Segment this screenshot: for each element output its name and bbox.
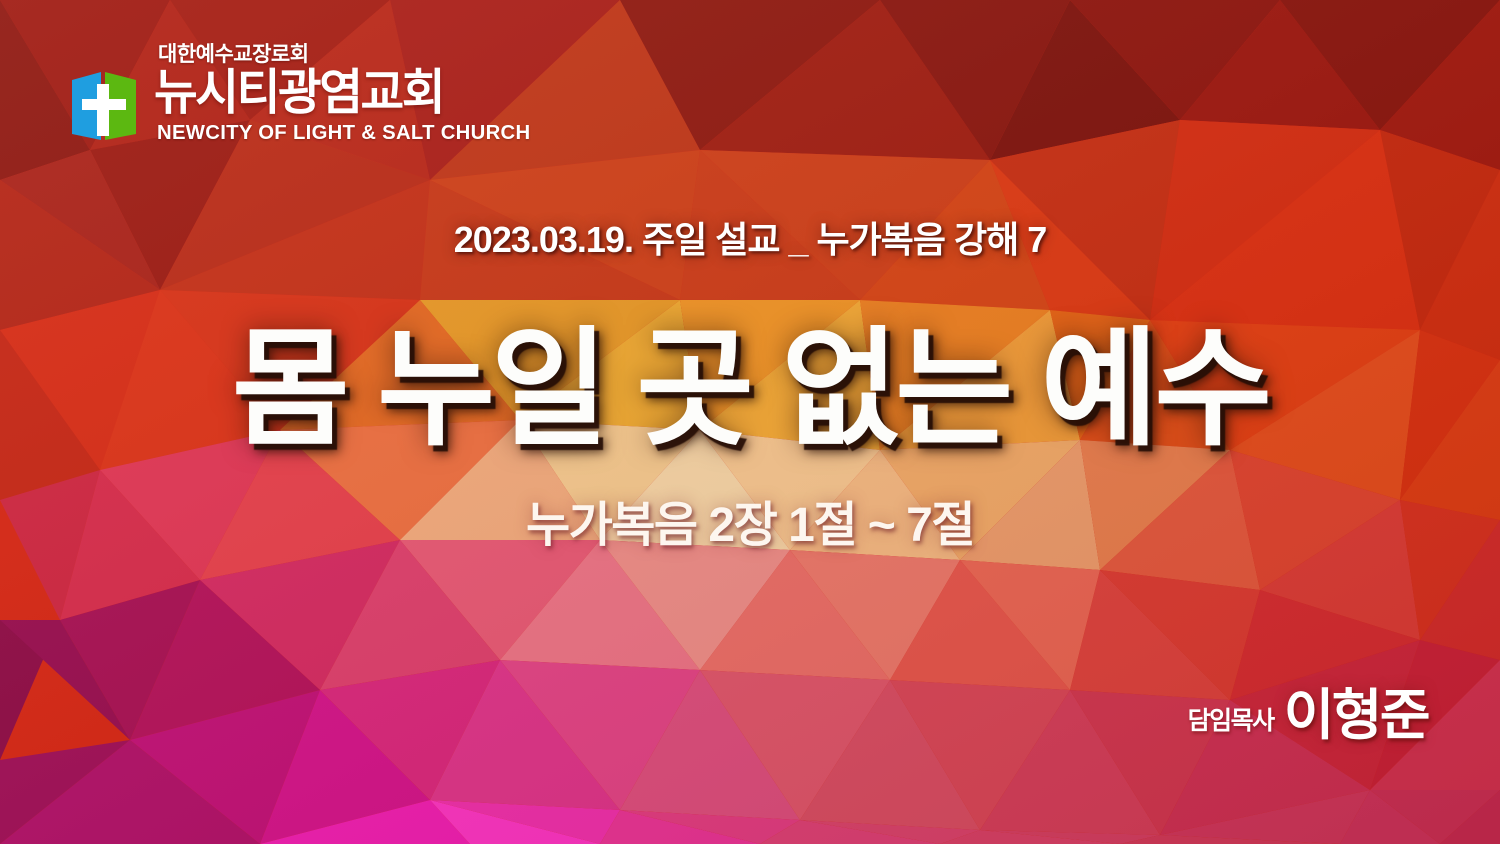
open-book-cross-logo-icon [68, 70, 142, 146]
sermon-series-line: 2023.03.19. 주일 설교 _ 누가복음 강해 7 [0, 222, 1500, 258]
denomination-label: 대한예수교장로회 [158, 44, 309, 65]
church-logo: 대한예수교장로회 뉴시티광염교회 NEWCITY OF LIGHT & SALT… [68, 44, 534, 146]
sermon-title: 몸 누일 곳 없는 예수 [0, 326, 1500, 454]
church-name-english: NEWCITY OF LIGHT & SALT CHURCH [157, 123, 530, 144]
scripture-reference: 누가복음 2장 1절 ~ 7절 [0, 502, 1500, 550]
preacher-name: 이형준 [1284, 690, 1428, 741]
church-name-korean: 뉴시티광염교회 [154, 68, 443, 119]
preacher-credit: 담임목사 이형준 [1188, 690, 1428, 741]
sermon-title-card: 대한예수교장로회 뉴시티광염교회 NEWCITY OF LIGHT & SALT… [0, 0, 1500, 844]
sermon-info-block: 2023.03.19. 주일 설교 _ 누가복음 강해 7 몸 누일 곳 없는 … [0, 222, 1500, 550]
preacher-role-label: 담임목사 [1188, 709, 1274, 734]
